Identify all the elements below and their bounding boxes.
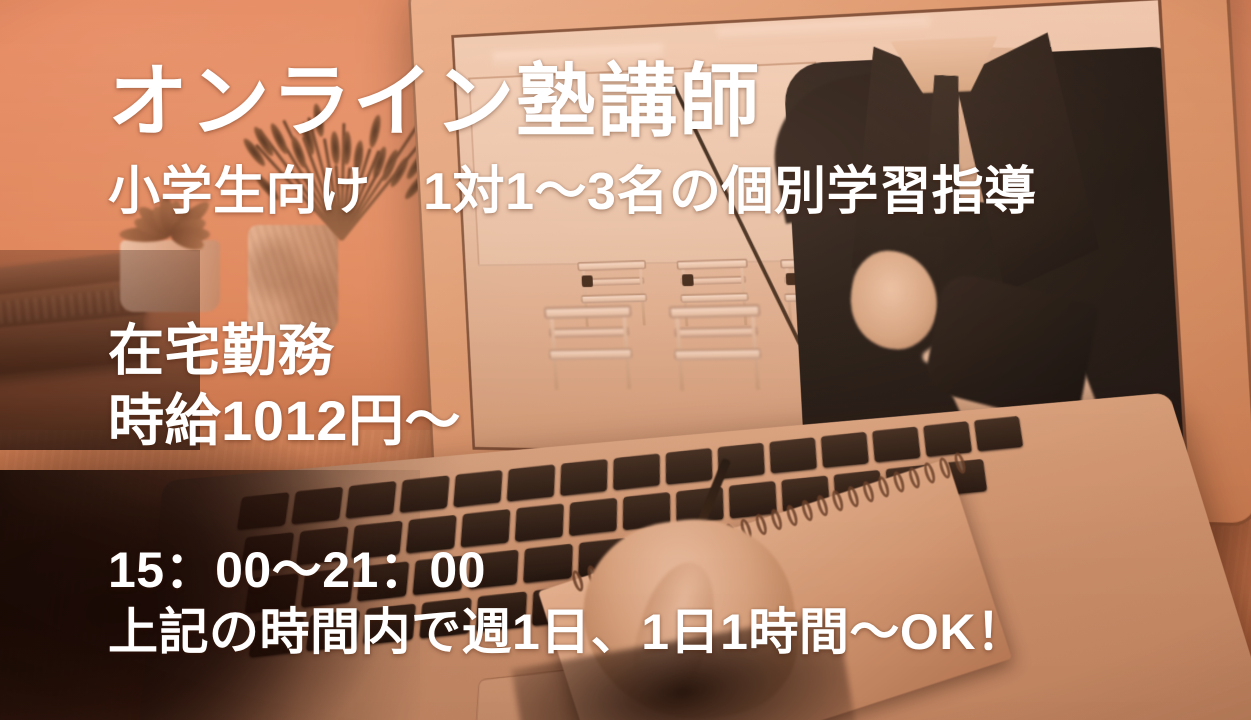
job-ad-poster: オンライン塾講師 小学生向け 1対1〜3名の個別学習指導 在宅勤務 時給1012… xyxy=(0,0,1251,720)
headline: オンライン塾講師 xyxy=(108,62,761,142)
wage-text: 時給1012円〜 xyxy=(108,393,461,449)
work-style-text: 在宅勤務 xyxy=(108,323,334,379)
subheadline: 小学生向け 1対1〜3名の個別学習指導 xyxy=(108,166,1037,218)
hours-text: 15：00〜21：00 xyxy=(108,545,486,595)
frequency-text: 上記の時間内で週1日、1日1時間〜OK！ xyxy=(108,607,1026,657)
text-overlay: オンライン塾講師 小学生向け 1対1〜3名の個別学習指導 在宅勤務 時給1012… xyxy=(0,0,1251,720)
